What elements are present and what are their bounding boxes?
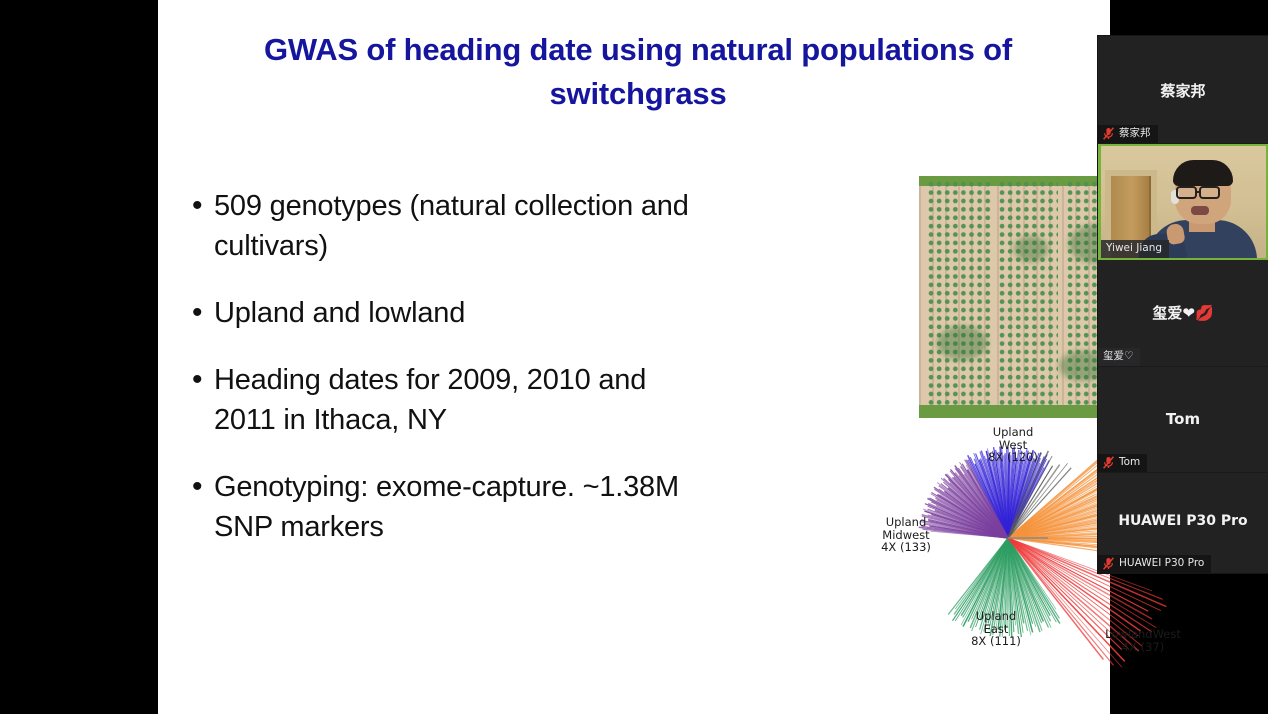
participant-tile[interactable]: HUAWEI P30 Pro HUAWEI P30 Pro xyxy=(1098,473,1268,573)
tree-label-upland-west: Upland West 8X (120) xyxy=(958,426,1068,464)
tree-label-upland-east: Upland East 8X (111) xyxy=(946,610,1046,648)
name-badge: HUAWEI P30 Pro xyxy=(1098,555,1211,573)
canopy-patch xyxy=(937,326,987,360)
participant-display-name: 蔡家邦 xyxy=(1098,80,1268,101)
plot-block xyxy=(998,180,1058,412)
microphone-muted-icon xyxy=(1103,127,1114,140)
page-title: GWAS of heading date using natural popul… xyxy=(218,28,1058,116)
eyeglasses-right-lens xyxy=(1199,186,1220,199)
plot-block xyxy=(927,180,992,412)
name-badge: Tom xyxy=(1098,454,1147,472)
participant-tile[interactable]: Tom Tom xyxy=(1098,367,1268,473)
list-item-label: Heading dates for 2009, 2010 and 2011 in… xyxy=(214,360,708,440)
tree-label-upland-midwest: Upland Midwest 4X (133) xyxy=(860,516,952,554)
list-item-label: Upland and lowland xyxy=(214,293,465,333)
name-badge-label: 玺爱♡ xyxy=(1103,350,1133,363)
list-item-label: 509 genotypes (natural collection and cu… xyxy=(214,186,708,266)
bullet-marker-icon: • xyxy=(188,293,214,333)
participant-tile[interactable]: 玺爱❤💋 玺爱♡ xyxy=(1098,260,1268,367)
canopy-patch xyxy=(1014,236,1048,262)
participant-display-name: HUAWEI P30 Pro xyxy=(1098,513,1268,529)
name-badge: 玺爱♡ xyxy=(1098,348,1140,366)
list-item: • Genotyping: exome-capture. ~1.38M SNP … xyxy=(188,467,708,547)
name-badge-label: Tom xyxy=(1119,456,1140,469)
list-item: • Upland and lowland xyxy=(188,293,708,333)
eyeglasses-left-lens xyxy=(1176,186,1197,199)
name-badge: 蔡家邦 xyxy=(1098,125,1158,143)
bullet-marker-icon: • xyxy=(188,186,214,226)
zoom-screenshare-screen: GWAS of heading date using natural popul… xyxy=(0,0,1268,714)
name-badge-label: 蔡家邦 xyxy=(1119,127,1151,140)
microphone-muted-icon xyxy=(1103,557,1114,570)
eyeglasses-bridge xyxy=(1197,191,1201,193)
person-mouth xyxy=(1191,206,1209,215)
bullet-list: • 509 genotypes (natural collection and … xyxy=(188,186,708,574)
shared-slide: GWAS of heading date using natural popul… xyxy=(158,0,1110,714)
name-badge: Yiwei Jiang xyxy=(1101,240,1169,258)
list-item-label: Genotyping: exome-capture. ~1.38M SNP ma… xyxy=(214,467,708,547)
person-hair xyxy=(1173,160,1233,186)
list-item: • Heading dates for 2009, 2010 and 2011 … xyxy=(188,360,708,440)
name-badge-label: HUAWEI P30 Pro xyxy=(1119,557,1204,570)
name-badge-label: Yiwei Jiang xyxy=(1106,242,1162,255)
tree-label-lowland-west: LowlandWest 4X (37) xyxy=(1080,628,1206,653)
bullet-marker-icon: • xyxy=(188,467,214,507)
participant-filmstrip[interactable]: 蔡家邦 蔡家邦 xyxy=(1098,36,1268,573)
participant-display-name: 玺爱❤💋 xyxy=(1098,302,1268,323)
participant-display-name: Tom xyxy=(1098,410,1268,428)
participant-tile[interactable]: 蔡家邦 蔡家邦 xyxy=(1098,36,1268,144)
list-item: • 509 genotypes (natural collection and … xyxy=(188,186,708,266)
bullet-marker-icon: • xyxy=(188,360,214,400)
participant-tile-active-speaker[interactable]: Yiwei Jiang xyxy=(1098,144,1268,260)
microphone-muted-icon xyxy=(1103,456,1114,469)
